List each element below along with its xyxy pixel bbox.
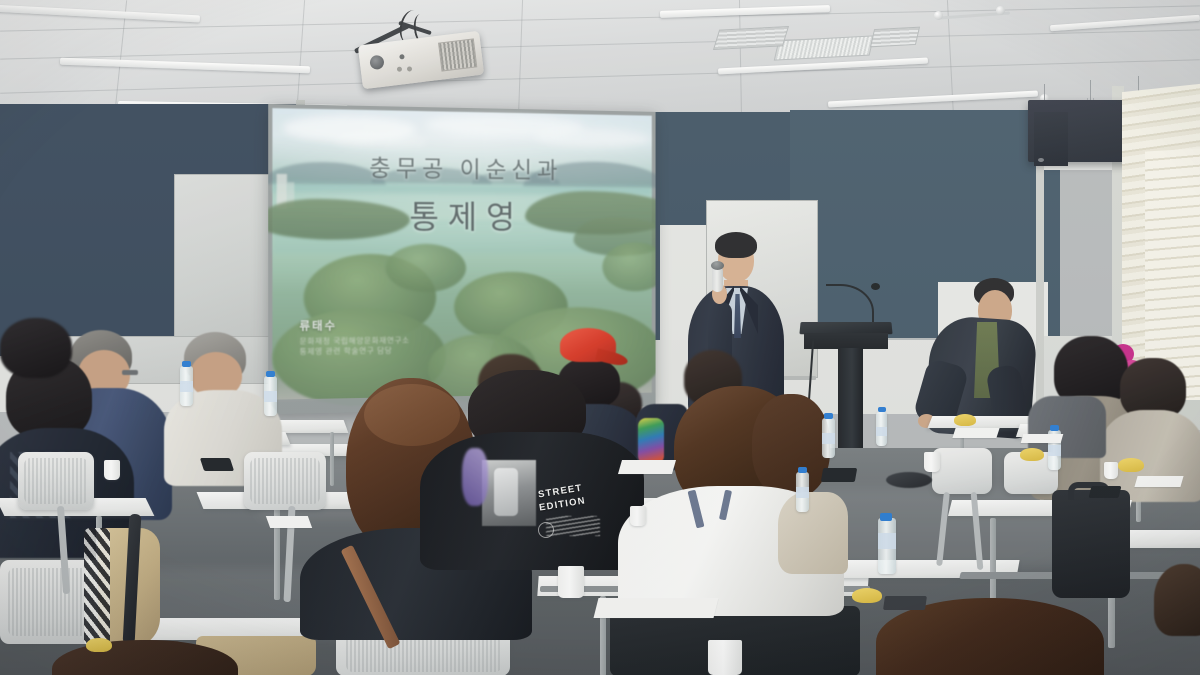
snack[interactable] (954, 414, 976, 426)
tee-small-print (546, 516, 600, 536)
ceiling-vent (713, 26, 789, 50)
snack[interactable] (1020, 448, 1044, 461)
ceiling-light-strip (60, 58, 310, 74)
water-bottle[interactable] (796, 472, 809, 512)
attendee-row-head (1154, 564, 1200, 624)
snack[interactable] (1118, 458, 1144, 472)
ceiling-light-strip (718, 58, 928, 75)
paper-cup[interactable] (708, 640, 742, 675)
slide-title-line1: 충무공 이순신과 (272, 147, 651, 186)
lectern-front (804, 333, 888, 349)
paper-cup[interactable] (558, 566, 584, 598)
handout[interactable] (1134, 476, 1183, 487)
tee-script-text (462, 448, 488, 506)
ceiling-light-strip (660, 5, 830, 18)
handout[interactable] (952, 428, 999, 438)
microphone-grille (711, 261, 724, 270)
water-bottle[interactable] (876, 412, 887, 446)
handout[interactable] (266, 516, 312, 528)
water-bottle[interactable] (878, 518, 896, 574)
snack[interactable] (86, 638, 112, 652)
smartphone[interactable] (821, 468, 857, 482)
paper-cup[interactable] (104, 460, 120, 480)
microphone-capsule (871, 283, 880, 290)
water-bottle[interactable] (180, 366, 193, 406)
slide-credit-sub2: 통제영 관련 학술연구 담당 (299, 346, 409, 358)
plaid-bag (84, 528, 110, 646)
water-bottle[interactable] (822, 418, 835, 458)
backpack (1052, 490, 1130, 598)
eyeglasses (122, 370, 138, 375)
slide-title-line2: 통제영 (272, 190, 651, 238)
presenter-hair (715, 232, 757, 258)
projector-vent-grille (438, 38, 477, 71)
track-light (996, 6, 1005, 15)
attendee-foreground-left-head (52, 640, 242, 675)
smartphone[interactable] (200, 458, 234, 471)
projector-lens (369, 55, 385, 71)
paper-cup[interactable] (630, 506, 646, 526)
ceiling-vent (870, 27, 920, 48)
slide-credit: 류태수 문화재청 국립해양문화재연구소 통제영 관련 학술연구 담당 (299, 316, 409, 357)
slide-credit-name: 류태수 (299, 316, 409, 333)
handout[interactable] (618, 460, 676, 474)
water-bottle[interactable] (264, 376, 277, 416)
attendee-hair (52, 640, 238, 675)
ceiling-light-strip (0, 5, 200, 23)
snack[interactable] (852, 588, 882, 603)
ceiling-air-diffuser (774, 35, 875, 60)
track-light (934, 11, 943, 20)
attendee-slate-jacket (1028, 388, 1108, 458)
attendee-street-edition-tee: STREET EDITION (420, 370, 650, 570)
chair[interactable] (932, 448, 992, 494)
attendee-hair (752, 394, 830, 498)
smartphone[interactable] (1089, 486, 1122, 498)
attendee-far-left (0, 318, 80, 388)
speaker-driver (1038, 158, 1044, 162)
paper-cup[interactable] (1104, 462, 1118, 479)
attendee-scarf (778, 492, 848, 574)
ceiling-light-strip (828, 91, 1038, 108)
lecture-hall-photo: 충무공 이순신과 통제영 류태수 문화재청 국립해양문화재연구소 통제영 관련 … (0, 0, 1200, 675)
paper-cup[interactable] (924, 452, 940, 472)
eyeglasses-case[interactable] (883, 596, 927, 610)
handout[interactable] (594, 598, 719, 618)
tote-item (886, 472, 932, 488)
handout[interactable] (1021, 434, 1064, 443)
ceiling (0, 0, 1200, 118)
